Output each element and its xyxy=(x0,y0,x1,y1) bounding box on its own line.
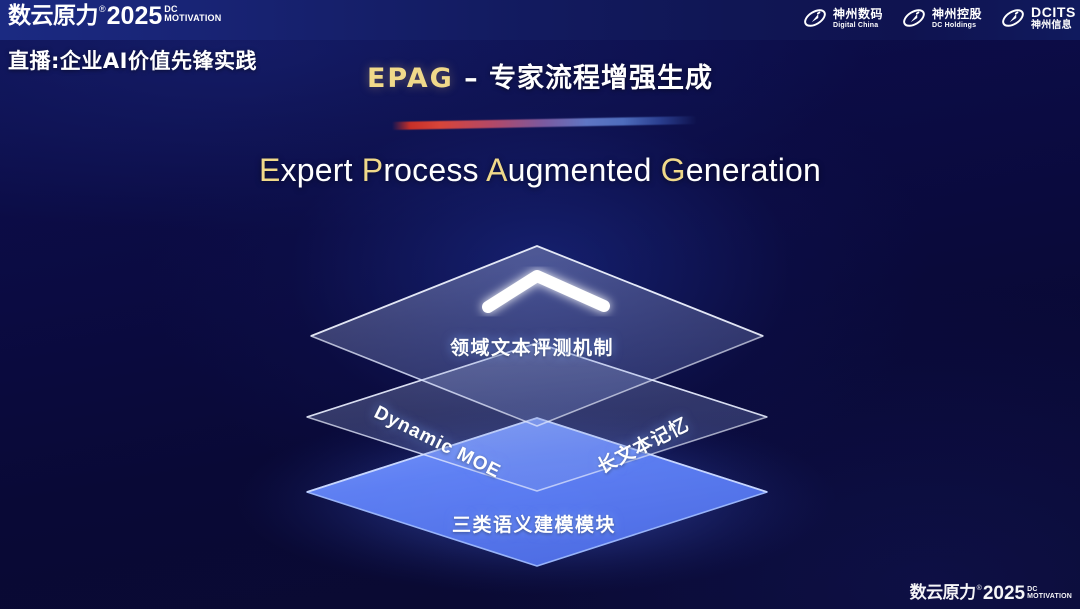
brand-dc-text: DC xyxy=(1027,586,1072,593)
partner-name-cn: 神州数码 xyxy=(833,8,883,20)
subtitle-part: ugmented xyxy=(508,152,661,188)
partner-name-cn-secondary: 神州信息 xyxy=(1031,21,1076,31)
swoosh-icon xyxy=(802,5,828,31)
subtitle-part: xpert xyxy=(281,152,362,188)
swoosh-icon xyxy=(1000,5,1026,31)
brand-logo-top-left: 数云原力 ® 2025 DC MOTIVATION xyxy=(8,3,221,29)
registered-mark: ® xyxy=(977,584,982,593)
subtitle-part: eneration xyxy=(686,152,821,188)
brand-motivation-text: MOTIVATION xyxy=(1027,593,1072,600)
layer-bottom-label: 三类语义建模模块 xyxy=(452,510,616,537)
subtitle-part: P xyxy=(362,152,384,188)
brand-name-cn: 数云原力 xyxy=(8,3,98,29)
subtitle-part: A xyxy=(486,152,508,188)
partner-logo-dcits: DCITS 神州信息 xyxy=(1000,5,1076,31)
slide-canvas: 数云原力 ® 2025 DC MOTIVATION 直播:企业AI价值先锋实践 … xyxy=(0,0,1080,609)
partner-name-en-primary: DCITS xyxy=(1031,5,1076,19)
brand-dc-motivation: DC MOTIVATION xyxy=(164,5,221,23)
title-chinese: – 专家流程增强生成 xyxy=(454,63,713,94)
brand-year: 2025 xyxy=(107,3,163,29)
partner-text-block: 神州数码 Digital China xyxy=(833,8,883,29)
partner-name-en: DC Holdings xyxy=(932,22,982,29)
subtitle-part: E xyxy=(259,152,281,188)
brand-motivation-text: MOTIVATION xyxy=(164,14,221,23)
brand-dc-motivation: DC MOTIVATION xyxy=(1027,586,1072,600)
partner-name-en: Digital China xyxy=(833,22,883,29)
brand-year: 2025 xyxy=(983,584,1025,603)
partner-logo-group: 神州数码 Digital China 神州控股 DC Holdings xyxy=(802,5,1076,31)
partner-logo-dc-holdings: 神州控股 DC Holdings xyxy=(901,5,982,31)
title-acronym: EPAG xyxy=(367,63,454,94)
subtitle-part: G xyxy=(661,152,686,188)
partner-text-block: DCITS 神州信息 xyxy=(1031,5,1076,31)
live-stream-title: 直播:企业AI价值先锋实践 xyxy=(8,45,257,75)
brand-logo-watermark: 数云原力 ® 2025 DC MOTIVATION xyxy=(910,584,1072,603)
subtitle-part: rocess xyxy=(383,152,486,188)
partner-logo-digital-china: 神州数码 Digital China xyxy=(802,5,883,31)
layer-top-label: 领域文本评测机制 xyxy=(450,333,614,360)
partner-text-block: 神州控股 DC Holdings xyxy=(932,8,982,29)
partner-name-cn: 神州控股 xyxy=(932,8,982,20)
subtitle-expansion: Expert Process Augmented Generation xyxy=(0,152,1080,189)
brand-name-cn: 数云原力 xyxy=(910,584,976,603)
registered-mark: ® xyxy=(99,3,106,15)
swoosh-icon xyxy=(901,5,927,31)
